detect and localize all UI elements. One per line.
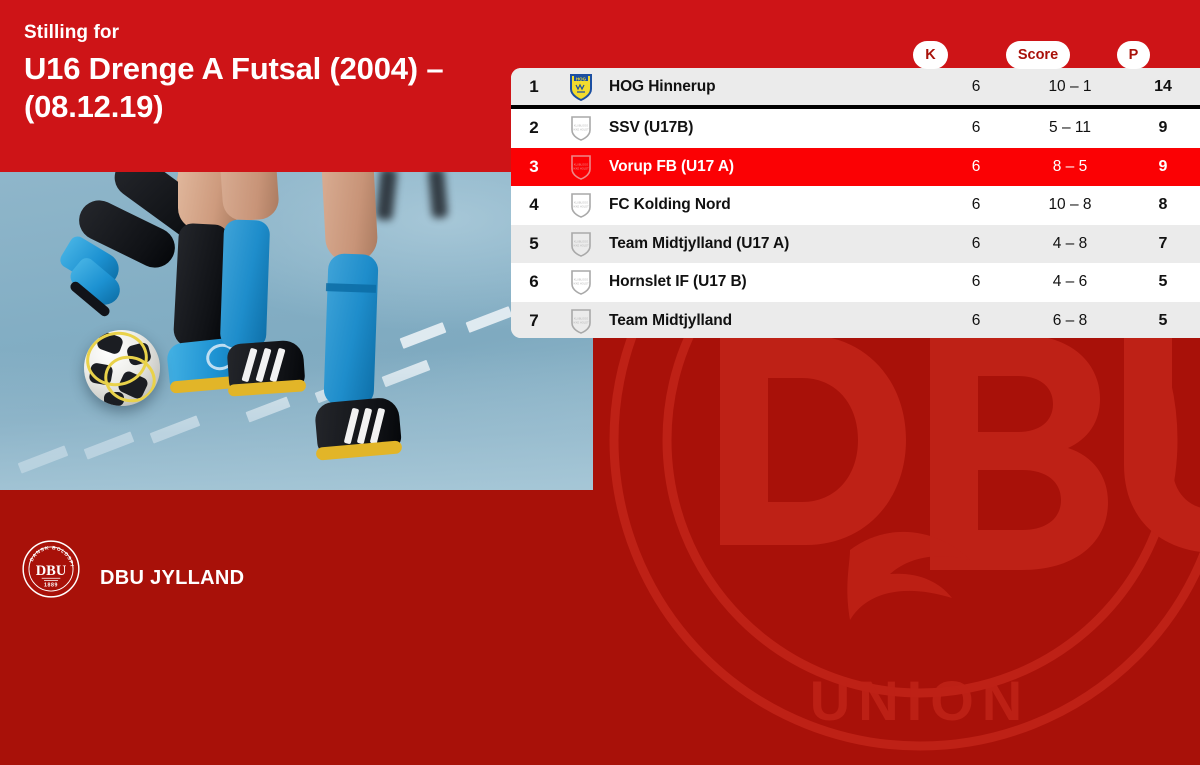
row-team-name: SSV (U17B)	[605, 119, 938, 137]
dbu-logo: DBU 1889 DANSK BOLDSPIL UNION	[22, 540, 80, 603]
row-team-name: HOG Hinnerup	[605, 78, 938, 96]
row-team-name: Hornslet IF (U17 B)	[605, 273, 938, 291]
row-matches-played: 6	[938, 235, 1014, 253]
footer	[0, 490, 1200, 630]
table-row[interactable]: 3 KLUBLOGO IKKE HOLDT Vorup FB (U17 A) 6…	[511, 148, 1200, 187]
svg-text:KLUBLOGO: KLUBLOGO	[574, 239, 588, 243]
row-matches-played: 6	[938, 119, 1014, 137]
header-kicker: Stilling for	[24, 22, 119, 44]
svg-text:HOG: HOG	[576, 76, 587, 81]
dbu-seal-icon: DBU 1889 DANSK BOLDSPIL UNION	[22, 540, 80, 598]
brand-name: DBU JYLLAND	[100, 567, 244, 590]
row-position: 5	[511, 234, 557, 254]
svg-text:KLUBLOGO: KLUBLOGO	[574, 162, 588, 166]
page-title: U16 Drenge A Futsal (2004) – (08.12.19)	[24, 50, 524, 126]
row-position: 3	[511, 157, 557, 177]
row-score: 8 – 5	[1014, 158, 1126, 176]
column-header-p: P	[1117, 41, 1150, 69]
row-points: 9	[1126, 119, 1200, 137]
row-score: 6 – 8	[1014, 312, 1126, 330]
column-header-k: K	[913, 41, 948, 69]
player-thigh	[220, 172, 280, 222]
generic-club-crest: KLUBLOGO IKKE HOLDT	[569, 191, 593, 219]
generic-club-crest: KLUBLOGO IKKE HOLDT	[557, 153, 605, 181]
row-matches-played: 6	[938, 273, 1014, 291]
svg-text:KLUBLOGO: KLUBLOGO	[574, 316, 588, 320]
row-position: 7	[511, 311, 557, 331]
generic-club-crest: KLUBLOGO IKKE HOLDT	[569, 230, 593, 258]
generic-club-crest: KLUBLOGO IKKE HOLDT	[569, 268, 593, 296]
row-team-name: Team Midtjylland	[605, 312, 938, 330]
row-matches-played: 6	[938, 312, 1014, 330]
futsal-photo	[0, 172, 593, 490]
svg-text:IKKE HOLDT: IKKE HOLDT	[573, 128, 589, 132]
svg-text:IKKE HOLDT: IKKE HOLDT	[573, 166, 589, 170]
row-points: 5	[1126, 273, 1200, 291]
generic-club-crest: KLUBLOGO IKKE HOLDT	[557, 268, 605, 296]
svg-text:1889: 1889	[44, 582, 58, 588]
svg-text:KLUBLOGO: KLUBLOGO	[574, 278, 588, 282]
row-position: 1	[511, 77, 557, 97]
row-score: 10 – 1	[1014, 78, 1126, 96]
svg-text:KLUBLOGO: KLUBLOGO	[574, 124, 588, 128]
row-position: 6	[511, 272, 557, 292]
row-team-name: Team Midtjylland (U17 A)	[605, 235, 938, 253]
svg-text:IKKE HOLDT: IKKE HOLDT	[573, 320, 589, 324]
row-team-name: Vorup FB (U17 A)	[605, 158, 938, 176]
row-points: 5	[1126, 312, 1200, 330]
svg-text:IKKE HOLDT: IKKE HOLDT	[573, 243, 589, 247]
table-row[interactable]: 2 KLUBLOGO IKKE HOLDT SSV (U17B) 6 5 – 1…	[511, 109, 1200, 148]
generic-club-crest: KLUBLOGO IKKE HOLDT	[569, 114, 593, 142]
generic-club-crest: KLUBLOGO IKKE HOLDT	[569, 307, 593, 335]
column-header-score: Score	[1006, 41, 1070, 69]
futsal-ball	[84, 330, 160, 406]
table-row[interactable]: 1 HOG HOG Hinnerup 6 10 – 1 14	[511, 68, 1200, 109]
row-position: 4	[511, 195, 557, 215]
row-score: 5 – 11	[1014, 119, 1126, 137]
generic-club-crest: KLUBLOGO IKKE HOLDT	[557, 114, 605, 142]
generic-club-crest: KLUBLOGO IKKE HOLDT	[557, 191, 605, 219]
generic-club-crest: KLUBLOGO IKKE HOLDT	[557, 307, 605, 335]
player-calf	[321, 172, 378, 263]
row-score: 4 – 6	[1014, 273, 1126, 291]
row-matches-played: 6	[938, 158, 1014, 176]
svg-text:UNION: UNION	[810, 669, 1030, 732]
sock-band	[326, 283, 376, 293]
row-score: 10 – 8	[1014, 196, 1126, 214]
player-blue-sock	[220, 219, 270, 349]
row-matches-played: 6	[938, 78, 1014, 96]
row-score: 4 – 8	[1014, 235, 1126, 253]
table-row[interactable]: 6 KLUBLOGO IKKE HOLDT Hornslet IF (U17 B…	[511, 263, 1200, 302]
svg-text:IKKE HOLDT: IKKE HOLDT	[573, 205, 589, 209]
generic-club-crest: KLUBLOGO IKKE HOLDT	[569, 153, 593, 181]
hog-hinnerup-crest: HOG	[557, 73, 605, 101]
row-matches-played: 6	[938, 196, 1014, 214]
svg-text:KLUBLOGO: KLUBLOGO	[574, 201, 588, 205]
player-blue-sock	[323, 253, 378, 407]
hog-hinnerup-crest: HOG	[569, 73, 593, 101]
table-row[interactable]: 7 KLUBLOGO IKKE HOLDT Team Midtjylland 6…	[511, 302, 1200, 339]
row-points: 8	[1126, 196, 1200, 214]
generic-club-crest: KLUBLOGO IKKE HOLDT	[557, 230, 605, 258]
table-row[interactable]: 5 KLUBLOGO IKKE HOLDT Team Midtjylland (…	[511, 225, 1200, 264]
table-row[interactable]: 4 KLUBLOGO IKKE HOLDT FC Kolding Nord 6 …	[511, 186, 1200, 225]
row-position: 2	[511, 118, 557, 138]
svg-text:DBU: DBU	[36, 563, 67, 579]
svg-text:IKKE HOLDT: IKKE HOLDT	[573, 282, 589, 286]
row-points: 9	[1126, 158, 1200, 176]
row-points: 14	[1126, 78, 1200, 96]
standings-table: 1 HOG HOG Hinnerup 6 10 – 1 142 KLUBLOGO…	[511, 68, 1200, 338]
row-points: 7	[1126, 235, 1200, 253]
row-team-name: FC Kolding Nord	[605, 196, 938, 214]
